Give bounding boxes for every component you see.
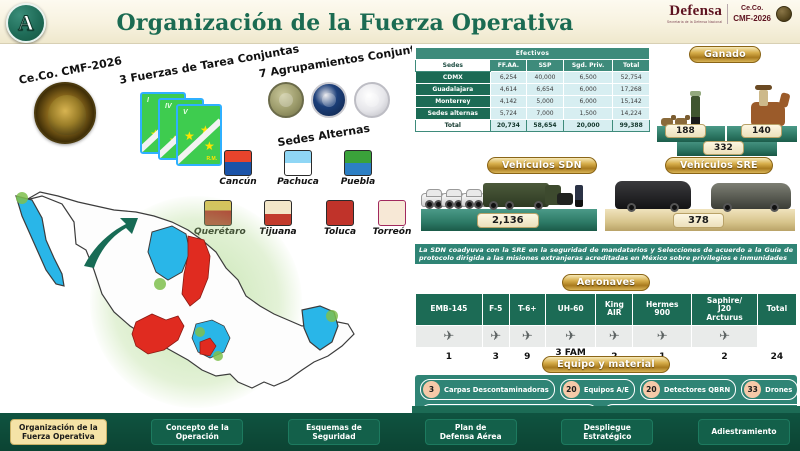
col-header-ffaa: FF.AA. <box>490 60 527 72</box>
cell-monterrey-total: 15,142 <box>613 96 650 108</box>
aircraft-image-saphire: ✈ <box>692 325 758 347</box>
nav-item-adiestramiento[interactable]: Adiestramiento <box>698 419 790 445</box>
brand-logo: Defensa Secretaría de la Defensa Naciona… <box>667 4 792 24</box>
fuerza-card-2-label: IV <box>165 103 172 110</box>
mounted-rider-icon <box>759 90 768 106</box>
aircraft-image-kingair: ✈ <box>596 325 633 347</box>
cell-guadalajara-sgd: 6,000 <box>563 84 613 96</box>
vehiculos-sdn-count: 2,136 <box>477 213 539 228</box>
sedes-alternas-label: Sedes Alternas <box>277 122 371 149</box>
vehiculos-note: La SDN coadyuva con la SRE en la segurid… <box>415 244 797 264</box>
fuerza-card-1-label: I <box>147 97 149 104</box>
mexico-map-svg <box>2 174 410 412</box>
col-header-sedes: Sedes <box>416 60 491 72</box>
cell-guadalajara-ssp: 6,654 <box>527 84 564 96</box>
nav-item-concepto-operacion[interactable]: Concepto de laOperación <box>151 419 243 445</box>
brand-subtitle: Secretaría de la Defensa Nacional <box>667 21 722 24</box>
footer-accent-strip <box>412 406 800 413</box>
nav-item-esquemas-seguridad[interactable]: Esquemas deSeguridad <box>288 419 380 445</box>
guard-soldier-icon <box>575 185 583 207</box>
ceco-emblem-icon <box>34 82 96 144</box>
cell-alternas-ffaa: 5,724 <box>490 108 527 120</box>
handler-soldier-icon <box>691 96 700 126</box>
cell-cdmx-sgd: 6,500 <box>563 72 613 84</box>
aircraft-image-uh60: ✈ <box>545 325 596 347</box>
brand-divider <box>727 4 728 24</box>
nav-item-despliegue-estrategico[interactable]: DespliegueEstratégico <box>561 419 653 445</box>
equipo-label-equipos-ae: Equipos A/E <box>584 386 629 394</box>
row-label-guadalajara: Guadalajara <box>416 84 491 96</box>
aircraft-header-t6: T-6+ <box>509 294 545 326</box>
aeronaves-title: Aeronaves <box>562 274 650 291</box>
ganado-count-canine: 188 <box>665 124 706 138</box>
nav-item-plan-defensa-aerea[interactable]: Plan deDefensa Aérea <box>425 419 517 445</box>
section-badge-icon: A <box>6 3 46 43</box>
aircraft-image-t6: ✈ <box>509 325 545 347</box>
efectivos-table: Efectivos Sedes FF.AA. SSP Sgd. Priv. To… <box>415 47 650 132</box>
drone-icon: ✈ <box>657 329 668 342</box>
equipo-row-1: 3 Carpas Descontaminadoras 20 Equipos A/… <box>420 379 792 400</box>
col-header-sgd: Sgd. Priv. <box>563 60 613 72</box>
aircraft-header-kingair: KingAIR <box>596 294 633 326</box>
aircraft-header-saphire: Saphire/J20Arcturus <box>692 294 758 326</box>
agrupamiento-medal-airforce-icon <box>354 82 390 118</box>
cell-guadalajara-total: 17,268 <box>613 84 650 96</box>
table-row: Monterrey 4,142 5,000 6,000 15,142 <box>416 96 650 108</box>
cell-monterrey-sgd: 6,000 <box>563 96 613 108</box>
equipo-count-detectores-qbrn: 20 <box>643 381 660 398</box>
shield-puebla-icon <box>344 150 372 176</box>
cell-alternas-sgd: 1,500 <box>563 108 613 120</box>
brand-ceco: Ce.Co. <box>733 5 771 13</box>
nav-item-organizacion-fuerza-operativa[interactable]: Organización de laFuerza Operativa <box>10 419 107 445</box>
aircraft-header-total: Total <box>757 294 796 326</box>
row-label-cdmx: CDMX <box>416 72 491 84</box>
mexico-map <box>2 174 410 412</box>
equipo-count-carpas: 3 <box>423 381 440 398</box>
ganado-section: Ganado 188 140 332 <box>655 46 798 156</box>
vehiculos-sre-count: 378 <box>673 213 724 228</box>
shield-pachuca-icon <box>284 150 312 176</box>
row-label-monterrey: Monterrey <box>416 96 491 108</box>
cell-cdmx-ffaa: 6,254 <box>490 72 527 84</box>
cell-total-total: 99,388 <box>613 120 650 132</box>
agrupamiento-medal-army-icon <box>268 82 304 118</box>
ganado-title: Ganado <box>689 46 761 63</box>
efectivos-header-row: Sedes FF.AA. SSP Sgd. Priv. Total <box>416 60 650 72</box>
aircraft-header-uh60: UH-60 <box>545 294 596 326</box>
row-label-total: Total <box>416 120 491 132</box>
cell-alternas-ssp: 7,000 <box>527 108 564 120</box>
aeronaves-image-row: ✈ ✈ ✈ ✈ ✈ ✈ ✈ <box>416 325 797 347</box>
aircraft-header-f5: F-5 <box>482 294 509 326</box>
vehiculos-sre-title: Vehículos SRE <box>665 157 773 174</box>
table-row: Sedes alternas 5,724 7,000 1,500 14,224 <box>416 108 650 120</box>
equipo-item-drones: 33 Drones <box>741 379 798 400</box>
vehiculos-section: Vehículos SDN Vehículos SRE 2,136 378 <box>415 157 797 245</box>
equipo-label-drones: Drones <box>765 386 792 394</box>
equipo-item-equipos-ae: 20 Equipos A/E <box>560 379 635 400</box>
table-total-row: Total 20,734 58,654 20,000 99,388 <box>416 120 650 132</box>
agrupamientos-medals <box>268 82 390 118</box>
footer-nav: Organización de laFuerza Operativa Conce… <box>0 413 800 451</box>
shield-cancun-icon <box>224 150 252 176</box>
black-van-icon <box>615 181 691 209</box>
suv-icon <box>711 183 791 209</box>
motorcycle-icon <box>557 193 573 205</box>
slide-header: A Organización de la Fuerza Operativa De… <box>0 0 800 44</box>
trainer-plane-icon: ✈ <box>522 329 533 342</box>
airplane-icon: ✈ <box>443 329 454 342</box>
col-header-ssp: SSP <box>527 60 564 72</box>
fighter-jet-icon: ✈ <box>490 329 501 342</box>
cell-cdmx-total: 52,754 <box>613 72 650 84</box>
left-panel: Ce.Co. CMF-2026 3 Fuerzas de Tarea Conju… <box>0 44 412 413</box>
horse-icon <box>751 102 785 126</box>
turboprop-icon: ✈ <box>609 329 620 342</box>
efectivos-title: Efectivos <box>416 48 650 60</box>
cell-monterrey-ssp: 5,000 <box>527 96 564 108</box>
national-seal-icon <box>776 6 792 22</box>
cell-monterrey-ffaa: 4,142 <box>490 96 527 108</box>
equipo-count-equipos-ae: 20 <box>563 381 580 398</box>
aircraft-image-emb145: ✈ <box>416 325 483 347</box>
aeronaves-header-row: EMB-145 F-5 T-6+ UH-60 KingAIR Hermes900… <box>416 294 797 326</box>
cell-total-ssp: 58,654 <box>527 120 564 132</box>
aircraft-header-emb145: EMB-145 <box>416 294 483 326</box>
agrupamiento-medal-navy-icon <box>311 82 347 118</box>
cell-alternas-total: 14,224 <box>613 108 650 120</box>
col-header-total: Total <box>613 60 650 72</box>
table-row: CDMX 6,254 40,000 6,500 52,754 <box>416 72 650 84</box>
brand-cmf-year: CMF-2026 <box>733 14 771 23</box>
right-panel: Efectivos Sedes FF.AA. SSP Sgd. Priv. To… <box>412 44 800 413</box>
equipo-item-carpas: 3 Carpas Descontaminadoras <box>420 379 555 400</box>
cell-total-sgd: 20,000 <box>563 120 613 132</box>
aircraft-image-f5: ✈ <box>482 325 509 347</box>
equipo-label-detectores-qbrn: Detectores QBRN <box>664 386 730 394</box>
aircraft-image-total-blank <box>757 325 796 347</box>
equipo-label-carpas: Carpas Descontaminadoras <box>444 386 549 394</box>
cell-guadalajara-ffaa: 4,614 <box>490 84 527 96</box>
slide-root: A Organización de la Fuerza Operativa De… <box>0 0 800 451</box>
equipo-item-detectores-qbrn: 20 Detectores QBRN <box>640 379 736 400</box>
brand-name: Defensa <box>667 4 722 19</box>
page-title: Organización de la Fuerza Operativa <box>110 6 580 40</box>
uav-icon: ✈ <box>719 329 730 342</box>
cell-total-ffaa: 20,734 <box>490 120 527 132</box>
aircraft-image-hermes900: ✈ <box>633 325 692 347</box>
equipo-count-drones: 33 <box>744 381 761 398</box>
section-badge-letter: A <box>18 10 34 36</box>
vehiculos-sdn-title: Vehículos SDN <box>487 157 597 174</box>
table-row: Guadalajara 4,614 6,654 6,000 17,268 <box>416 84 650 96</box>
equipo-title: Equipo y material <box>542 356 670 373</box>
aircraft-header-hermes900: Hermes900 <box>633 294 692 326</box>
cell-cdmx-ssp: 40,000 <box>527 72 564 84</box>
ganado-count-equine: 140 <box>741 124 782 138</box>
fuerza-card-3-label: V <box>183 109 188 116</box>
row-label-sedes-alternas: Sedes alternas <box>416 108 491 120</box>
military-truck-icon <box>483 183 549 207</box>
ganado-count-total: 332 <box>703 141 744 155</box>
helicopter-icon: ✈ <box>565 329 576 342</box>
